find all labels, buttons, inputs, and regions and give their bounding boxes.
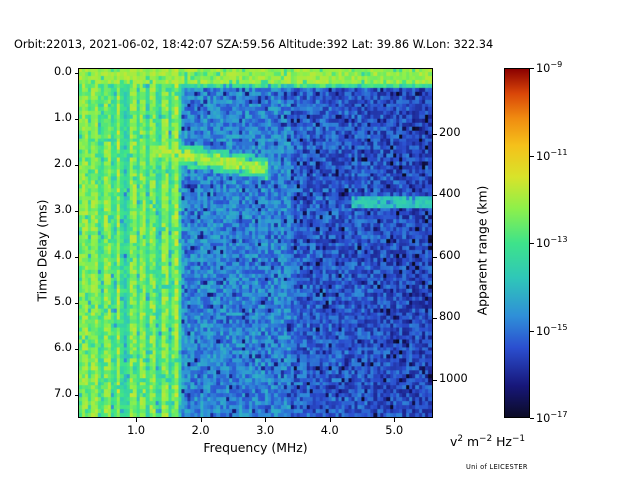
tick-mark: [530, 68, 534, 69]
tick-mark: [201, 418, 202, 422]
r-tick-200: 200: [439, 126, 485, 139]
figure-title: Orbit:22013, 2021-06-02, 18:42:07 SZA:59…: [14, 38, 626, 51]
x-tick-3.0: 3.0: [242, 424, 288, 437]
colorbar-tick--17: 10−17: [536, 409, 568, 425]
tick-mark: [75, 165, 79, 166]
x-tick-5.0: 5.0: [371, 424, 417, 437]
x-tick-4.0: 4.0: [307, 424, 353, 437]
tick-mark: [265, 418, 266, 422]
tick-mark: [75, 211, 79, 212]
figure: Orbit:22013, 2021-06-02, 18:42:07 SZA:59…: [0, 0, 640, 480]
y-tick-6.0: 6.0: [26, 341, 72, 354]
tick-mark: [433, 380, 437, 381]
r-tick-400: 400: [439, 187, 485, 200]
colorbar-units-label: v2 m−2 Hz−1: [450, 434, 525, 449]
tick-mark: [530, 418, 534, 419]
y-tick-3.0: 3.0: [26, 203, 72, 216]
colorbar-tick--13: 10−13: [536, 234, 568, 250]
tick-mark: [433, 195, 437, 196]
y-tick-7.0: 7.0: [26, 387, 72, 400]
ionogram-heatmap[interactable]: [78, 68, 433, 418]
y-tick-1.0: 1.0: [26, 111, 72, 124]
tick-mark: [433, 318, 437, 319]
tick-mark: [433, 257, 437, 258]
tick-mark: [136, 418, 137, 422]
r-tick-800: 800: [439, 310, 485, 323]
x-tick-1.0: 1.0: [113, 424, 159, 437]
tick-mark: [75, 349, 79, 350]
tick-mark: [75, 73, 79, 74]
x-tick-2.0: 2.0: [178, 424, 224, 437]
r-tick-1000: 1000: [439, 372, 485, 385]
colorbar[interactable]: [504, 68, 530, 418]
r-tick-600: 600: [439, 249, 485, 262]
credit-label: Uni of LEICESTER: [466, 463, 528, 471]
colorbar-gradient: [505, 69, 529, 417]
y-tick-2.0: 2.0: [26, 157, 72, 170]
tick-mark: [530, 156, 534, 157]
colorbar-tick--15: 10−15: [536, 322, 568, 338]
tick-mark: [433, 134, 437, 135]
y-tick-5.0: 5.0: [26, 295, 72, 308]
y-tick-4.0: 4.0: [26, 249, 72, 262]
y-tick-0.0: 0.0: [26, 65, 72, 78]
x-axis-label: Frequency (MHz): [78, 440, 433, 455]
tick-mark: [75, 119, 79, 120]
tick-mark: [530, 243, 534, 244]
tick-mark: [530, 331, 534, 332]
tick-mark: [330, 418, 331, 422]
tick-mark: [394, 418, 395, 422]
colorbar-tick--11: 10−11: [536, 147, 568, 163]
colorbar-tick--9: 10−9: [536, 59, 562, 75]
tick-mark: [75, 395, 79, 396]
heatmap-canvas: [79, 69, 432, 417]
tick-mark: [75, 257, 79, 258]
tick-mark: [75, 303, 79, 304]
